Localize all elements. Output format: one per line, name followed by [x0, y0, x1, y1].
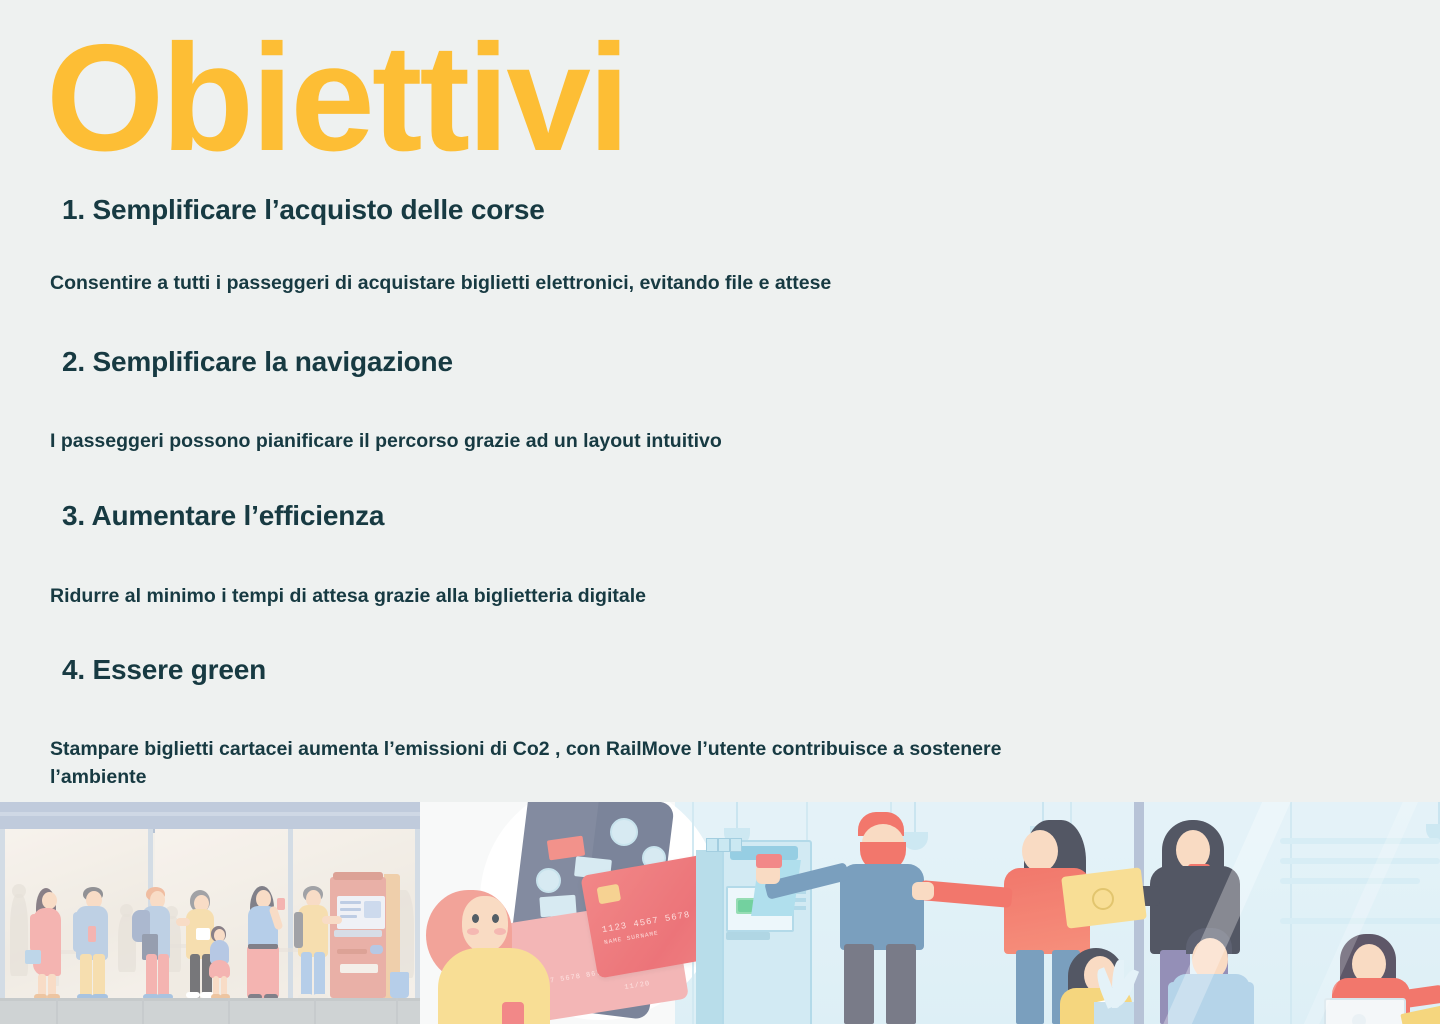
objective-body: Stampare biglietti cartacei aumenta l’em… [50, 735, 1040, 792]
credit-card-back-expiry: 11/20 [624, 980, 651, 992]
illustration-queue-at-ticket-machine [0, 802, 420, 1024]
objective-item-3: 3. Aumentare l’efficienza Ridurre al min… [0, 498, 1100, 610]
objective-item-2: 2. Semplificare la navigazione I passegg… [0, 344, 1100, 455]
page-title: Obiettivi [46, 22, 627, 174]
objective-body: Consentire a tutti i passeggeri di acqui… [50, 269, 1040, 297]
objective-heading: 2. Semplificare la navigazione [62, 344, 1100, 379]
objective-item-1: 1. Semplificare l’acquisto delle corse C… [0, 192, 1100, 297]
objective-heading: 1. Semplificare l’acquisto delle corse [62, 192, 1100, 227]
trash-bin [390, 972, 409, 998]
objective-heading: 4. Essere green [62, 652, 1100, 687]
ticket-machine-top [333, 872, 383, 880]
objective-item-4: 4. Essere green Stampare biglietti carta… [0, 652, 1100, 792]
illustration-strip: 4567 5678 8675 11/20 1123 4567 5678 8675… [0, 802, 1440, 1024]
objective-body: Ridurre al minimo i tempi di attesa graz… [50, 582, 1040, 610]
objective-heading: 3. Aumentare l’efficienza [62, 498, 1100, 533]
illustration-digital-payment-station-hall: 4567 5678 8675 11/20 1123 4567 5678 8675… [420, 802, 1440, 1024]
slide-root: Obiettivi 1. Semplificare l’acquisto del… [0, 0, 1440, 1024]
objective-body: I passeggeri possono pianificare il perc… [50, 427, 1040, 455]
objectives-list: 1. Semplificare l’acquisto delle corse C… [0, 192, 1100, 791]
